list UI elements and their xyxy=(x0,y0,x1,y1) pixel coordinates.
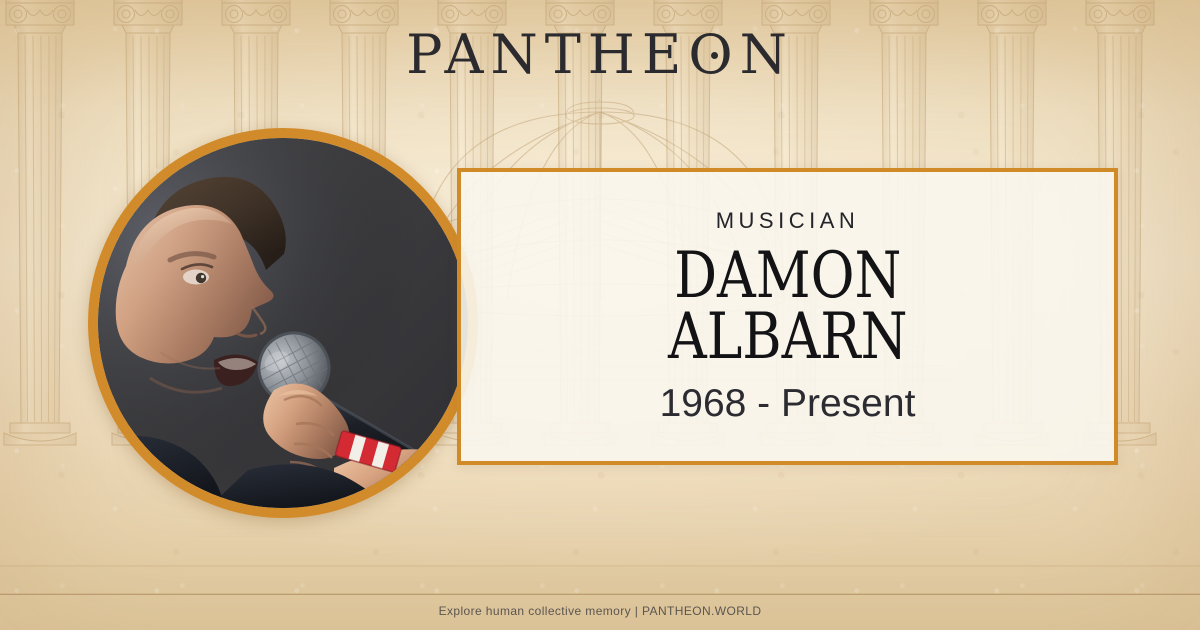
occupation-label: MUSICIAN xyxy=(716,210,860,232)
portrait-photo xyxy=(98,138,468,508)
wordmark-o-with-dot-icon: O xyxy=(688,28,739,82)
wordmark-text-right: N xyxy=(740,23,794,86)
person-info-card: MUSICIAN DAMON ALBARN 1968 - Present xyxy=(457,168,1118,465)
footer-tagline[interactable]: Explore human collective memory | PANTHE… xyxy=(0,598,1200,624)
person-name-line-2: ALBARN xyxy=(668,307,907,368)
person-portrait-avatar[interactable] xyxy=(88,128,478,518)
pantheon-card-canvas: PANTHEON xyxy=(0,0,1200,630)
wordmark-text-left: PANTHE xyxy=(406,23,688,86)
footer-divider xyxy=(0,594,1200,595)
pantheon-wordmark[interactable]: PANTHEON xyxy=(0,28,1200,82)
lifespan-label: 1968 - Present xyxy=(660,384,916,423)
wordmark-center-dot-icon xyxy=(711,52,718,59)
person-name-line-1: DAMON xyxy=(668,246,907,307)
person-name: DAMON ALBARN xyxy=(668,246,907,369)
